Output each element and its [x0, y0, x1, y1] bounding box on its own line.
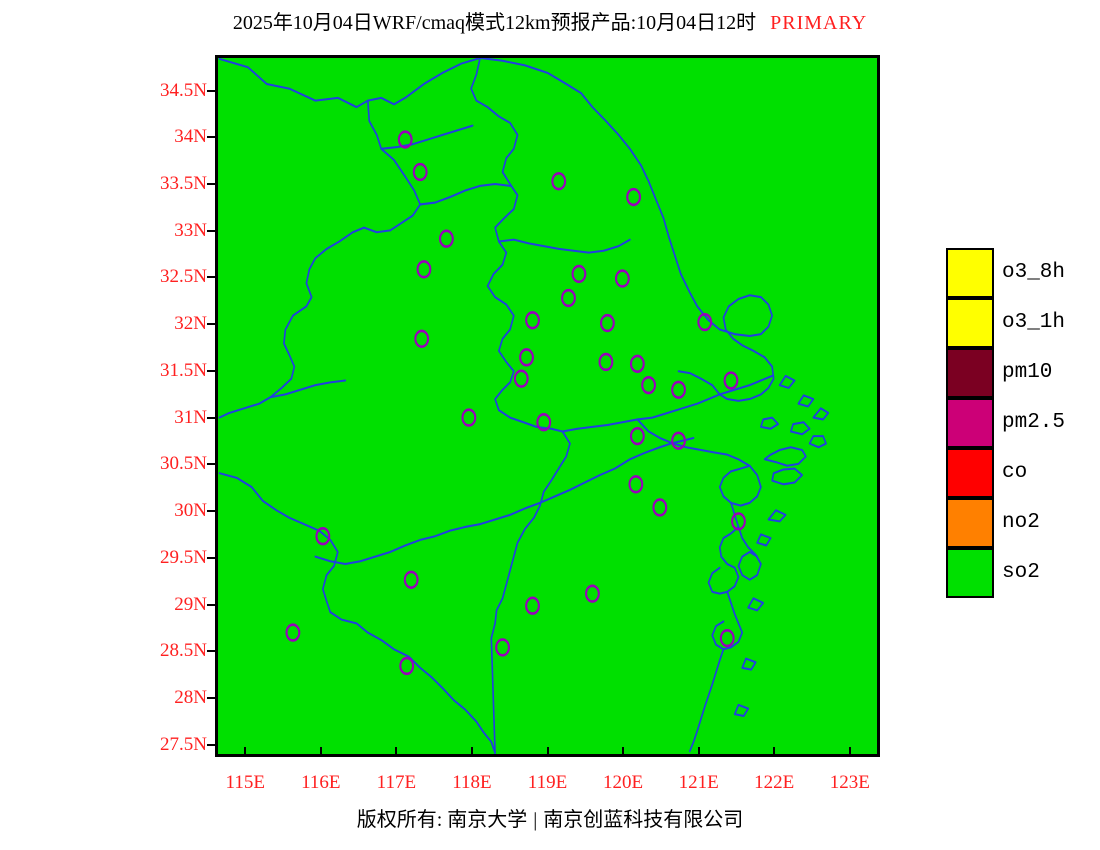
y-axis-tick-mark: [207, 417, 217, 419]
station-marker[interactable]: [552, 173, 565, 189]
station-marker[interactable]: [573, 266, 586, 282]
y-axis-tick-label: 29.5N: [117, 548, 207, 567]
y-axis-tick-mark: [207, 463, 217, 465]
y-axis-tick-mark: [207, 183, 217, 185]
y-axis-tick-label: 30.5N: [117, 454, 207, 473]
legend-row-pm10[interactable]: pm10: [946, 348, 1096, 398]
x-axis-tick-label: 117E: [356, 773, 436, 792]
map-plot-area[interactable]: [215, 55, 880, 757]
station-marker[interactable]: [642, 377, 655, 393]
station-marker[interactable]: [515, 371, 528, 387]
station-marker[interactable]: [631, 428, 644, 444]
station-marker[interactable]: [415, 331, 428, 347]
y-axis-tick-label: 28.5N: [117, 641, 207, 660]
y-axis-tick-label: 29N: [117, 595, 207, 614]
station-marker[interactable]: [418, 261, 431, 277]
y-axis-tick-label: 28N: [117, 688, 207, 707]
legend-row-no2[interactable]: no2: [946, 498, 1096, 548]
copyright-footer: 版权所有: 南京大学|南京创蓝科技有限公司: [0, 808, 1100, 832]
y-axis-tick-label: 30N: [117, 501, 207, 520]
x-axis-tick-mark: [244, 747, 246, 757]
station-marker[interactable]: [463, 410, 476, 426]
legend-row-o31h[interactable]: o3_1h: [946, 298, 1096, 348]
y-axis-tick-mark: [207, 136, 217, 138]
footer-separator: |: [527, 808, 543, 832]
station-marker[interactable]: [631, 356, 644, 372]
y-axis-tick-mark: [207, 90, 217, 92]
y-axis-tick-mark: [207, 370, 217, 372]
y-axis-tick-label: 34.5N: [117, 81, 207, 100]
pollutant-legend[interactable]: o3_8ho3_1hpm10pm2.5cono2so2: [946, 248, 1096, 598]
y-axis-tick-label: 27.5N: [117, 735, 207, 754]
legend-color-swatch: [946, 498, 994, 548]
y-axis-tick-label: 32.5N: [117, 267, 207, 286]
station-marker[interactable]: [630, 476, 643, 492]
footer-right: 南京创蓝科技有限公司: [543, 809, 743, 831]
legend-label: o3_1h: [1002, 312, 1065, 333]
station-marker[interactable]: [405, 572, 418, 588]
x-axis-tick-mark: [547, 747, 549, 757]
x-axis-tick-mark: [622, 747, 624, 757]
station-marker[interactable]: [526, 598, 539, 614]
x-axis-tick-mark: [320, 747, 322, 757]
legend-label: so2: [1002, 562, 1040, 583]
x-axis-tick-label: 122E: [734, 773, 814, 792]
y-axis-tick-mark: [207, 604, 217, 606]
legend-color-swatch: [946, 298, 994, 348]
station-marker[interactable]: [520, 349, 533, 365]
legend-color-swatch: [946, 548, 994, 598]
y-axis-tick-mark: [207, 650, 217, 652]
x-axis-tick-mark: [395, 747, 397, 757]
station-marker[interactable]: [627, 189, 640, 205]
legend-label: o3_8h: [1002, 262, 1065, 283]
y-axis-tick-mark: [207, 697, 217, 699]
station-marker[interactable]: [414, 164, 427, 180]
legend-row-co[interactable]: co: [946, 448, 1096, 498]
legend-row-so2[interactable]: so2: [946, 548, 1096, 598]
station-marker[interactable]: [586, 586, 599, 602]
y-axis-tick-label: 31.5N: [117, 361, 207, 380]
y-axis-tick-mark: [207, 510, 217, 512]
station-marker[interactable]: [672, 382, 685, 398]
legend-row-pm25[interactable]: pm2.5: [946, 398, 1096, 448]
y-axis-tick-mark: [207, 276, 217, 278]
legend-row-o38h[interactable]: o3_8h: [946, 248, 1096, 298]
y-axis-tick-mark: [207, 323, 217, 325]
x-axis-tick-mark: [849, 747, 851, 757]
x-axis-tick-label: 120E: [583, 773, 663, 792]
legend-label: pm2.5: [1002, 412, 1065, 433]
x-axis-tick-mark: [471, 747, 473, 757]
province-boundaries: [219, 58, 828, 753]
station-marker[interactable]: [600, 354, 613, 370]
station-marker[interactable]: [725, 373, 738, 389]
station-marker[interactable]: [496, 640, 509, 656]
station-marker[interactable]: [653, 500, 666, 516]
legend-color-swatch: [946, 348, 994, 398]
x-axis-labels: 115E116E117E118E119E120E121E122E123E: [215, 757, 880, 797]
x-axis-tick-label: 115E: [205, 773, 285, 792]
legend-label: co: [1002, 462, 1027, 483]
y-axis-tick-label: 34N: [117, 127, 207, 146]
x-axis-tick-label: 123E: [810, 773, 890, 792]
x-axis-tick-mark: [698, 747, 700, 757]
y-axis-tick-mark: [207, 557, 217, 559]
map-canvas: [218, 58, 877, 754]
x-axis-tick-label: 116E: [281, 773, 361, 792]
station-markers: [287, 132, 745, 674]
legend-label: pm10: [1002, 362, 1052, 383]
footer-left: 版权所有: 南京大学: [357, 809, 528, 831]
y-axis-tick-label: 32N: [117, 314, 207, 333]
station-marker[interactable]: [440, 231, 453, 247]
chart-title-suffix: PRIMARY: [770, 12, 867, 34]
legend-label: no2: [1002, 512, 1040, 533]
station-marker[interactable]: [562, 290, 575, 306]
station-marker[interactable]: [287, 625, 300, 641]
x-axis-tick-label: 118E: [432, 773, 512, 792]
legend-color-swatch: [946, 248, 994, 298]
y-axis-tick-label: 33.5N: [117, 174, 207, 193]
station-marker[interactable]: [721, 630, 734, 646]
station-marker[interactable]: [601, 315, 614, 331]
station-marker[interactable]: [616, 271, 629, 287]
x-axis-tick-label: 119E: [508, 773, 588, 792]
y-axis-tick-mark: [207, 230, 217, 232]
chart-title-main: 2025年10月04日WRF/cmaq模式12km预报产品:10月04日12时: [233, 12, 756, 34]
legend-color-swatch: [946, 398, 994, 448]
station-marker[interactable]: [526, 312, 539, 328]
legend-color-swatch: [946, 448, 994, 498]
y-axis-labels: 27.5N28N28.5N29N29.5N30N30.5N31N31.5N32N…: [115, 55, 207, 757]
chart-title: 2025年10月04日WRF/cmaq模式12km预报产品:10月04日12时P…: [0, 12, 1100, 34]
y-axis-tick-label: 33N: [117, 221, 207, 240]
y-axis-tick-label: 31N: [117, 408, 207, 427]
y-axis-tick-mark: [207, 744, 217, 746]
station-marker[interactable]: [400, 658, 413, 674]
x-axis-tick-label: 121E: [659, 773, 739, 792]
x-axis-tick-mark: [773, 747, 775, 757]
